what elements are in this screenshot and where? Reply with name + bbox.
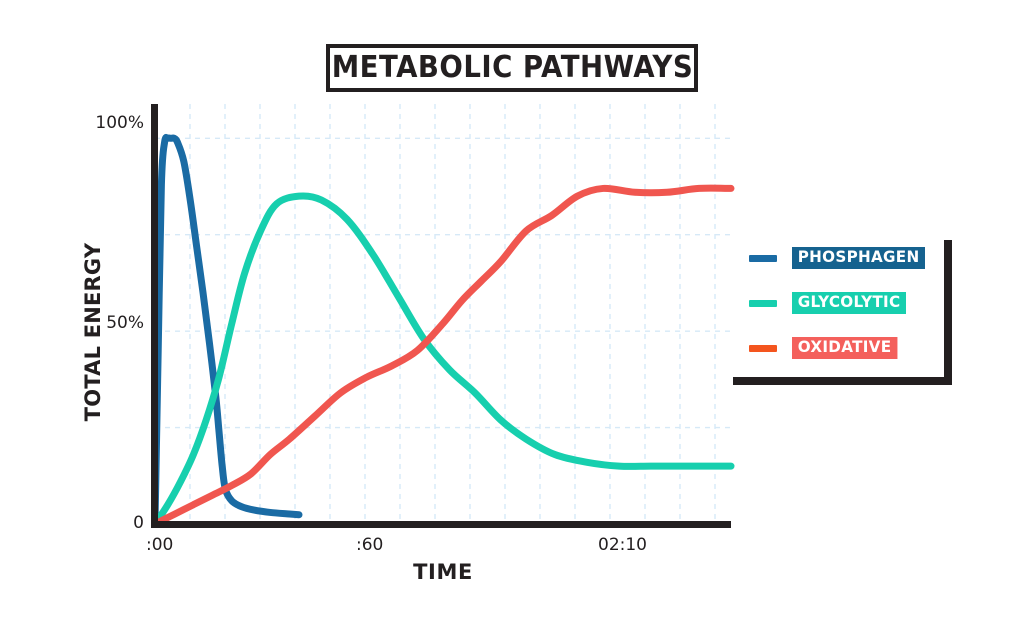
- metabolic-pathways-chart: METABOLIC PATHWAYS 100% 50% 0 :00 :60 02…: [0, 0, 1024, 620]
- y-axis-title: TOTAL ENERGY: [81, 232, 105, 432]
- legend: PHOSPHAGEN GLYCOLYTIC OXIDATIVE: [733, 238, 955, 388]
- y-axis-line: [151, 104, 158, 528]
- legend-label-glycolytic: GLYCOLYTIC: [792, 292, 906, 314]
- y-tick-label-0: 0: [64, 513, 144, 533]
- y-tick-label-100: 100%: [64, 113, 144, 133]
- x-tick-label-00: :00: [146, 535, 173, 555]
- legend-bracket-horizontal: [733, 377, 952, 385]
- gridlines: [155, 104, 735, 521]
- legend-label-phosphagen: PHOSPHAGEN: [792, 247, 925, 269]
- x-tick-label-60: :60: [356, 535, 383, 555]
- legend-item-phosphagen[interactable]: PHOSPHAGEN: [749, 246, 932, 270]
- legend-item-glycolytic[interactable]: GLYCOLYTIC: [749, 291, 912, 315]
- legend-item-oxidative[interactable]: OXIDATIVE: [749, 336, 903, 360]
- legend-swatch-oxidative: [749, 345, 777, 352]
- legend-swatch-phosphagen: [749, 255, 777, 262]
- series-curves: [155, 138, 731, 524]
- x-tick-label-0210: 02:10: [598, 535, 647, 555]
- x-axis-title: TIME: [155, 560, 731, 584]
- legend-swatch-glycolytic: [749, 300, 777, 307]
- x-axis-line: [151, 521, 731, 528]
- legend-label-oxidative: OXIDATIVE: [792, 337, 897, 359]
- legend-bracket-vertical: [944, 240, 952, 385]
